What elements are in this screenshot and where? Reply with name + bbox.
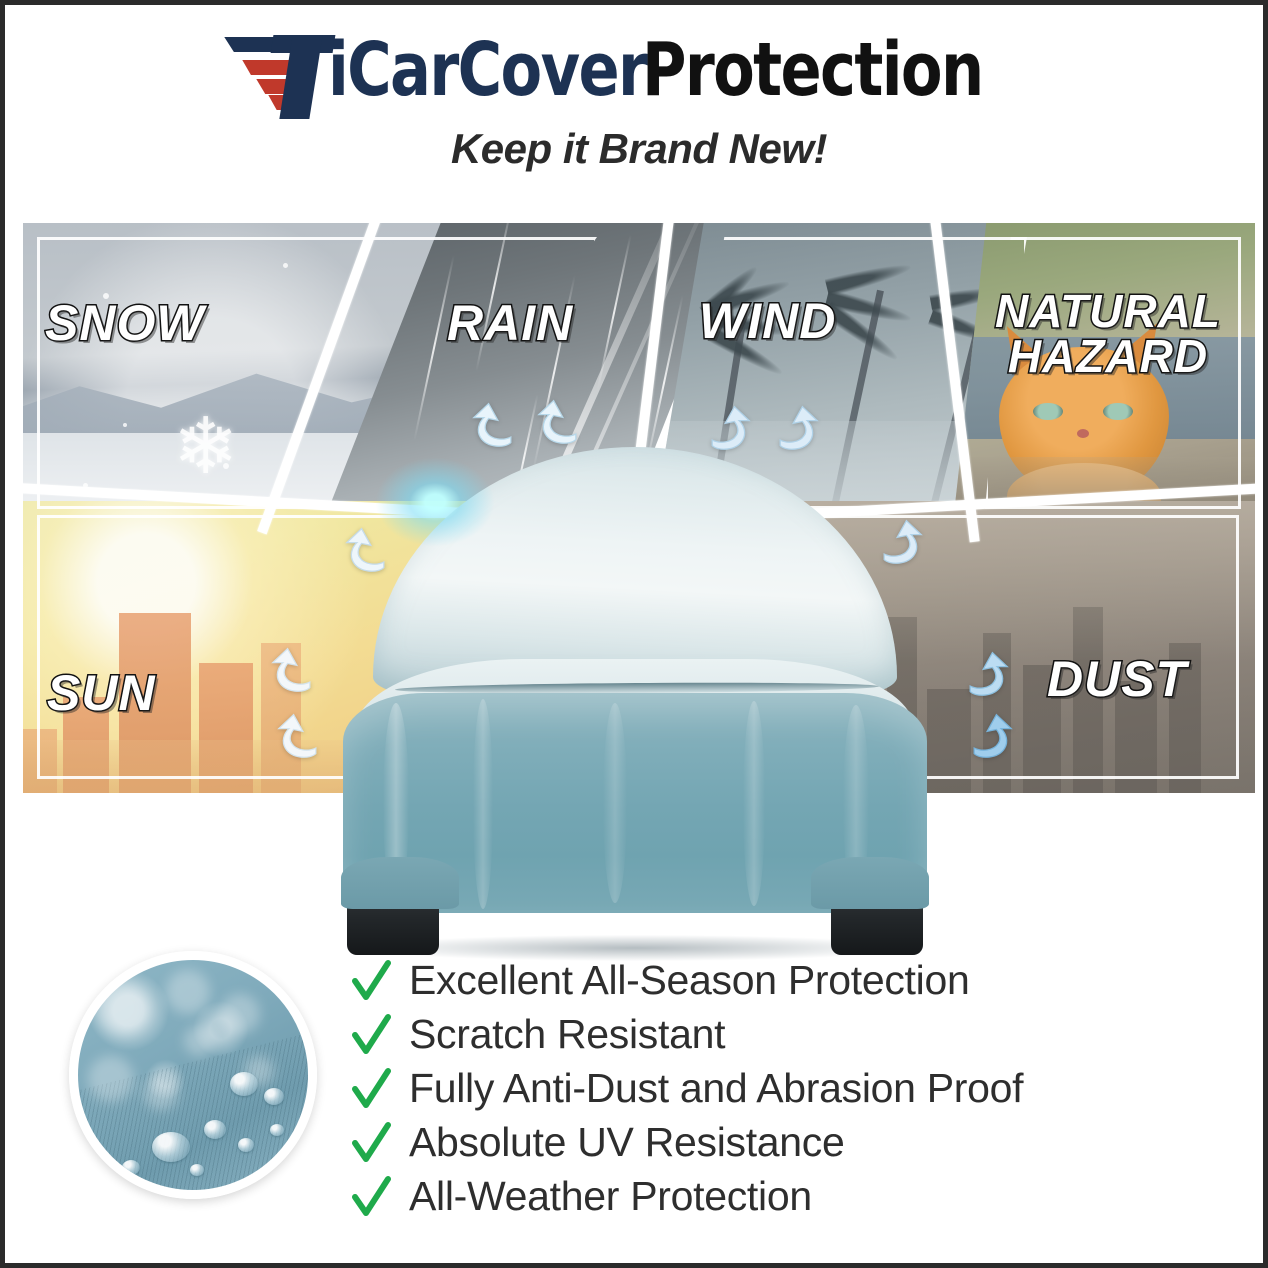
feature-text: Fully Anti-Dust and Abrasion Proof <box>409 1065 1023 1113</box>
bounce-back-arrow-icon <box>273 711 329 761</box>
green-check-icon <box>351 1013 391 1059</box>
covered-car <box>335 435 935 955</box>
tagline: Keep it Brand New! <box>5 125 1268 173</box>
header: iCarCover Protection Keep it Brand New! <box>5 25 1268 173</box>
list-item: Fully Anti-Dust and Abrasion Proof <box>351 1065 1171 1113</box>
panel-label-snow: SNOW <box>45 299 205 348</box>
water-beading-fabric-closeup <box>69 951 317 1199</box>
bounce-back-arrow-icon <box>341 525 397 575</box>
brand-suffix: Protection <box>642 33 983 107</box>
bounce-back-arrow-icon <box>961 711 1017 761</box>
icarcover-wing-logo-icon <box>220 29 328 115</box>
panel-label-sun: SUN <box>47 669 156 718</box>
green-check-icon <box>351 1175 391 1221</box>
feature-text: Excellent All-Season Protection <box>409 957 969 1005</box>
feature-text: Scratch Resistant <box>409 1011 725 1059</box>
bounce-back-arrow-icon <box>767 403 823 453</box>
bounce-back-arrow-icon <box>468 400 524 450</box>
bounce-back-arrow-icon <box>533 397 589 447</box>
feature-text: Absolute UV Resistance <box>409 1119 845 1167</box>
bounce-back-arrow-icon <box>699 403 755 453</box>
title-row: iCarCover Protection <box>5 25 1268 115</box>
feature-text: All-Weather Protection <box>409 1173 812 1221</box>
panel-label-natural-hazard: NATURAL HAZARD <box>963 289 1253 379</box>
panel-label-wind: WIND <box>699 297 836 346</box>
snowflake-icon: ❄ <box>173 401 238 492</box>
bounce-back-arrow-icon <box>267 645 323 695</box>
panel-label-rain: RAIN <box>447 299 573 348</box>
list-item: Scratch Resistant <box>351 1011 1171 1059</box>
list-item: Absolute UV Resistance <box>351 1119 1171 1167</box>
green-check-icon <box>351 959 391 1005</box>
bounce-back-arrow-icon <box>871 517 927 567</box>
list-item: All-Weather Protection <box>351 1173 1171 1221</box>
brand-name: iCarCover <box>328 33 646 107</box>
green-check-icon <box>351 1067 391 1113</box>
panel-label-dust: DUST <box>1047 655 1187 704</box>
list-item: Excellent All-Season Protection <box>351 957 1171 1005</box>
bounce-back-arrow-icon <box>957 649 1013 699</box>
feature-list: Excellent All-Season Protection Scratch … <box>351 957 1171 1227</box>
poster-frame: iCarCover Protection Keep it Brand New! … <box>0 0 1268 1268</box>
green-check-icon <box>351 1121 391 1167</box>
